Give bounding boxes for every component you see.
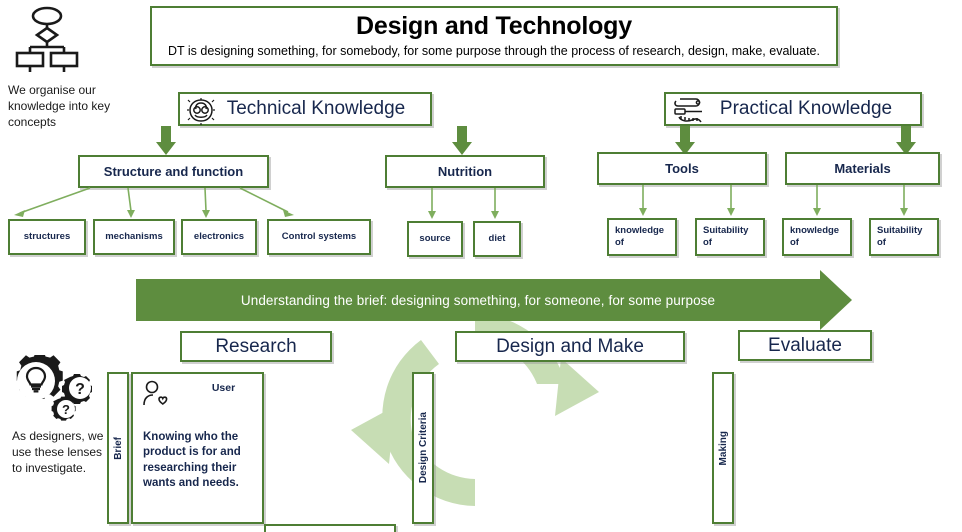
leaf-label: electronics — [194, 231, 244, 243]
brain-gear-icon — [186, 97, 216, 125]
arrow-technical-to-nutrition — [451, 126, 473, 156]
phase-label: Evaluate — [768, 335, 842, 357]
leaf-diet[interactable]: diet — [473, 221, 521, 257]
leaf-label: diet — [489, 233, 506, 245]
leaf-label: Control systems — [282, 231, 356, 243]
leaf-tools-suitability-of[interactable]: Suitability of — [695, 218, 765, 256]
tools-gear-icon — [672, 97, 706, 125]
leaf-label: knowledge of — [790, 225, 836, 249]
category-tools[interactable]: Tools — [597, 152, 767, 185]
leaf-label: Suitability of — [703, 225, 751, 249]
connectors-tools — [615, 185, 760, 219]
leaf-materials-knowledge-of[interactable]: knowledge of — [782, 218, 852, 256]
leaf-control-systems[interactable]: Control systems — [267, 219, 371, 255]
branch-header-practical[interactable]: Practical Knowledge — [664, 92, 922, 126]
page-title: Design and Technology — [356, 13, 632, 41]
strip-brief[interactable]: Brief — [107, 372, 129, 524]
category-materials[interactable]: Materials — [785, 152, 940, 185]
understanding-brief-banner: Understanding the brief: designing somet… — [136, 279, 852, 321]
leaf-mechanisms[interactable]: mechanisms — [93, 219, 175, 255]
leaf-label: knowledge of — [615, 225, 661, 249]
person-heart-icon — [141, 380, 169, 408]
lens-body: Knowing who the product is for and resea… — [143, 430, 254, 491]
leaf-materials-suitability-of[interactable]: Suitability of — [869, 218, 939, 256]
left-note-top: We organise our knowledge into key conce… — [8, 82, 112, 131]
banner-arrowhead — [820, 270, 852, 330]
phase-header-design-and-make[interactable]: Design and Make — [455, 331, 685, 362]
page-subtitle: DT is designing something, for somebody,… — [168, 44, 820, 59]
org-chart-icon — [14, 6, 80, 72]
leaf-tools-knowledge-of[interactable]: knowledge of — [607, 218, 677, 256]
page-title-box: Design and Technology DT is designing so… — [150, 6, 838, 66]
leaf-source[interactable]: source — [407, 221, 463, 257]
connectors-materials — [800, 185, 930, 219]
phase-label: Research — [215, 336, 296, 358]
connectors-nutrition — [400, 188, 530, 222]
lens-title: User — [191, 382, 256, 395]
category-label: Tools — [665, 161, 699, 176]
leaf-electronics[interactable]: electronics — [181, 219, 257, 255]
lens-card-user[interactable]: User Knowing who the product is for and … — [131, 372, 264, 524]
diagram-canvas: Design and Technology DT is designing so… — [0, 0, 962, 532]
phase-header-evaluate[interactable]: Evaluate — [738, 330, 872, 361]
leaf-label: mechanisms — [105, 231, 163, 243]
banner-body: Understanding the brief: designing somet… — [136, 279, 820, 321]
leaf-structures[interactable]: structures — [8, 219, 86, 255]
lens-card-purpose[interactable]: Purpose Knowing what the product is for … — [264, 524, 396, 532]
category-label: Structure and function — [104, 164, 243, 179]
branch-label-technical: Technical Knowledge — [227, 98, 406, 120]
svg-text:?: ? — [62, 402, 70, 417]
leaf-label: structures — [24, 231, 70, 243]
phase-label: Design and Make — [496, 336, 644, 358]
banner-text: Understanding the brief: designing somet… — [241, 293, 715, 308]
phase-header-research[interactable]: Research — [180, 331, 332, 362]
category-nutrition[interactable]: Nutrition — [385, 155, 545, 188]
branch-label-practical: Practical Knowledge — [720, 98, 892, 120]
leaf-label: Suitability of — [877, 225, 925, 249]
gears-lightbulb-icon: ? ? — [10, 355, 102, 421]
leaf-label: source — [419, 233, 450, 245]
strip-design-criteria[interactable]: Design Criteria — [412, 372, 434, 524]
arrow-technical-to-structure — [155, 126, 177, 156]
category-label: Nutrition — [438, 164, 492, 179]
left-note-bottom: As designers, we use these lenses to inv… — [12, 428, 104, 477]
branch-header-technical[interactable]: Technical Knowledge — [178, 92, 432, 126]
svg-text:?: ? — [75, 381, 85, 398]
connectors-structure-fanout — [0, 186, 400, 222]
category-structure-and-function[interactable]: Structure and function — [78, 155, 269, 188]
strip-making[interactable]: Making — [712, 372, 734, 524]
strip-label: Making — [718, 431, 729, 465]
category-label: Materials — [834, 161, 890, 176]
strip-label: Design Criteria — [418, 412, 429, 483]
strip-label: Brief — [113, 437, 124, 460]
